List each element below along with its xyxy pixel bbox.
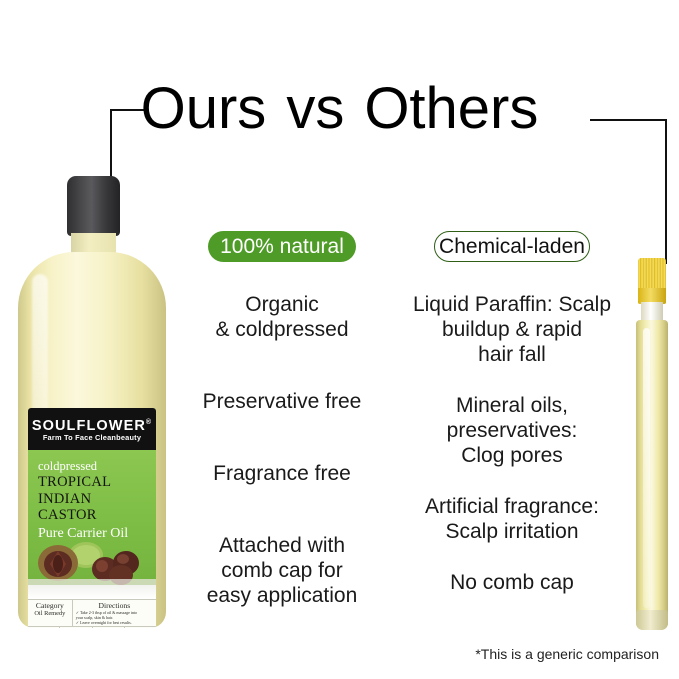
cell-directions: Directions ✓ Take 2-3 tbsp of oil & mass… (72, 600, 156, 626)
cell-action: Action Nrish hair & skin, nourishment (92, 627, 124, 628)
category-value: Oil Remedy (31, 610, 69, 618)
registered-mark: ® (146, 419, 152, 426)
bottle-highlight-others (643, 328, 650, 608)
connector-line-others-horizontal (590, 119, 667, 121)
brand-bar: SOULFLOWER® Farm To Face Cleanbeauty (28, 408, 156, 450)
list-item: Artificial fragrance: Scalp irritation (396, 494, 628, 544)
brand-name: SOULFLOWER® (32, 415, 152, 434)
directions-header: Directions (76, 601, 153, 610)
list-item: No comb cap (396, 570, 628, 595)
directions-line-3: ✓ Leave overnight for best results. (76, 620, 153, 625)
table-row: Category Oil Remedy Directions ✓ Take 2-… (28, 600, 156, 626)
title-vs: vs (286, 78, 344, 140)
connector-line-ours-horizontal (110, 109, 148, 111)
title-others: Others (364, 78, 538, 140)
label-line-2: INDIAN (38, 491, 156, 508)
comparison-infographic: Ours vs Others 100% natural Chemical-lad… (0, 0, 679, 679)
connector-line-ours-vertical (110, 109, 112, 185)
brand-tagline: Farm To Face Cleanbeauty (43, 433, 141, 443)
label-white-strip (28, 585, 156, 599)
product-bottle-others (634, 258, 670, 630)
bottle-body: SOULFLOWER® Farm To Face Cleanbeauty col… (18, 252, 166, 628)
list-item: Liquid Paraffin: Scalp buildup & rapid h… (396, 292, 628, 367)
label-green-panel: coldpressed TROPICAL INDIAN CASTOR Pure … (28, 450, 156, 585)
list-item: Mineral oils, preservatives: Clog pores (396, 393, 628, 468)
bottle-cap-icon (67, 176, 120, 236)
brand-name-text: SOULFLOWER (32, 417, 146, 433)
castor-seeds-illustration (28, 537, 156, 585)
label-line-3: CASTOR (38, 507, 156, 524)
cell-volume: Volume 6.77 fl oz./ 200 ml (28, 627, 59, 628)
badge-others: Chemical-laden (434, 231, 590, 262)
table-row: Volume 6.77 fl oz./ 200 ml For Oil hair … (28, 626, 156, 628)
cap-notch (133, 184, 153, 204)
title-ours: Ours (141, 78, 267, 140)
list-item: Organic & coldpressed (182, 292, 382, 342)
footnote-disclaimer: *This is a generic comparison (399, 646, 659, 662)
product-bottle-ours: SOULFLOWER® Farm To Face Cleanbeauty col… (18, 176, 166, 628)
cell-for: For Oil hair & skin (59, 627, 91, 628)
bottle-base-others (636, 610, 668, 630)
cell-category: Category Oil Remedy (28, 600, 72, 626)
badge-ours: 100% natural (208, 231, 356, 262)
ours-benefits-list: Organic & coldpressed Preservative free … (182, 292, 382, 608)
cell-type: Type Hall Sall (124, 627, 156, 628)
others-drawbacks-list: Liquid Paraffin: Scalp buildup & rapid h… (396, 292, 628, 595)
label-line-1: TROPICAL (38, 474, 156, 491)
label-coldpressed: coldpressed (38, 458, 156, 474)
product-label: SOULFLOWER® Farm To Face Cleanbeauty col… (28, 408, 156, 628)
label-info-table: Category Oil Remedy Directions ✓ Take 2-… (28, 599, 156, 628)
list-item: Preservative free (182, 389, 382, 414)
list-item: Attached with comb cap for easy applicat… (182, 533, 382, 608)
bottle-body-others (636, 320, 668, 630)
list-item: Fragrance free (182, 461, 382, 486)
category-header: Category (31, 601, 69, 610)
page-title: Ours vs Others (0, 78, 679, 140)
connector-line-others-vertical (665, 119, 667, 264)
